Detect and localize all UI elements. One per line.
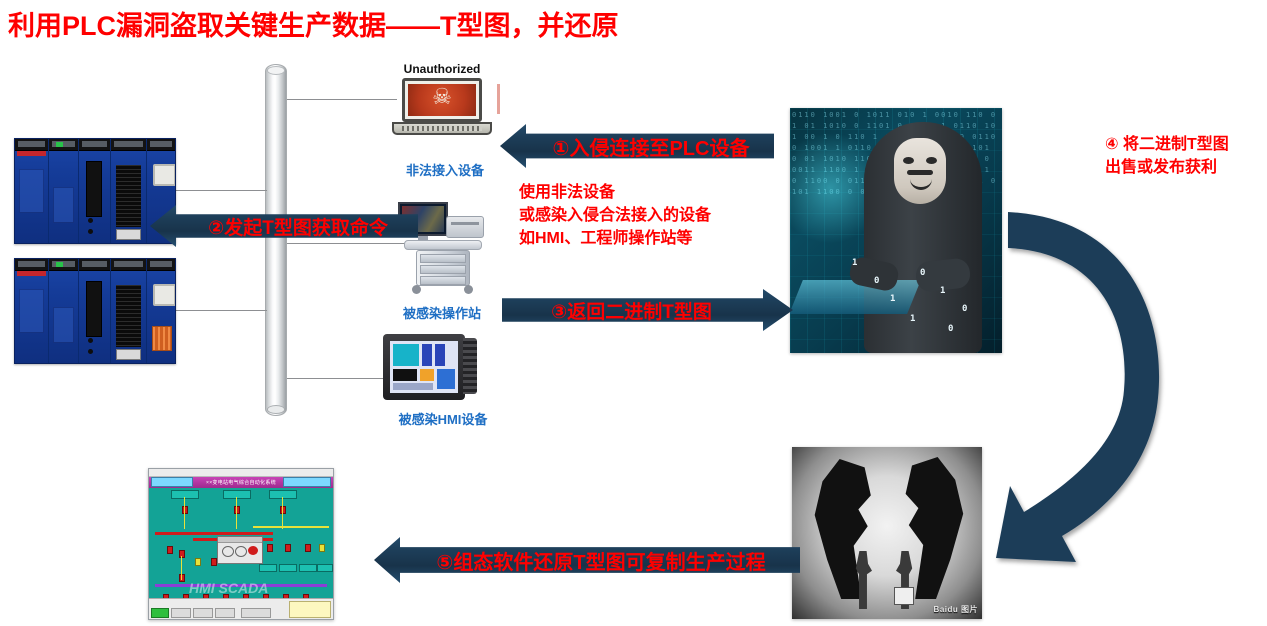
- bus-link-to-hmi: [287, 378, 387, 379]
- infected-hmi-device: [383, 334, 477, 400]
- bus-link-to-unauthorized-laptop: [287, 99, 397, 100]
- workstation-printer: [446, 216, 484, 238]
- arrow-step-3-label: ③返回二进制T型图: [502, 297, 787, 324]
- boxer-shadow-left: [810, 459, 888, 599]
- workstation-deck: [404, 240, 482, 250]
- plc-power-module: [15, 139, 49, 243]
- plc-io-connector-module: [79, 139, 111, 243]
- note-sell-profit: ④ 将二进制T型图 出售或发布获利: [1105, 133, 1265, 179]
- plc-rack-bottom: [14, 258, 176, 364]
- arrow-step-5-label: ⑤组态软件还原T型图可复制生产过程: [380, 546, 800, 575]
- plc-ethernet-module: [147, 259, 175, 363]
- hmi-bezel: [383, 334, 465, 400]
- page-title: 利用PLC漏洞盗取关键生产数据——T型图，并还原: [8, 4, 908, 43]
- bus-link-to-workstation: [287, 243, 407, 244]
- arrow-step-2-label: ②发起T型图获取命令: [156, 213, 418, 240]
- scada-toolbar-right: [283, 477, 331, 487]
- network-bus-cylinder: [265, 64, 287, 416]
- hacker-photo: 0110 1001 0 1011 010 1 0010 110 0 1 01 1…: [790, 108, 1002, 353]
- plc-power-module: [15, 259, 49, 363]
- workstation-cart-body: [416, 250, 470, 286]
- plc-terminal-module: [111, 259, 147, 363]
- plc-terminal-module: [111, 139, 147, 243]
- plc-io-connector-module: [79, 259, 111, 363]
- laptop-keyboard: [392, 122, 492, 135]
- hmi-screen: [390, 341, 458, 393]
- note-sell-profit-line2: 出售或发布获利: [1105, 156, 1265, 179]
- unauthorized-laptop: ☠: [392, 78, 492, 140]
- boxer-shadow-right: [888, 457, 968, 599]
- scada-title-text: ××变电站电气综合自动化系统: [206, 479, 276, 486]
- bus-link-to-plc-bottom: [175, 310, 267, 311]
- scada-diagram-canvas: HMI SCADA: [149, 488, 333, 599]
- laptop-antenna-icon: [497, 84, 500, 114]
- arrow-step-3[interactable]: ③返回二进制T型图: [502, 289, 793, 331]
- caption-unauthorized-device: 非法接入设备: [385, 160, 505, 179]
- workstation-wheel-right: [464, 285, 473, 294]
- deal-photo: Baidu 图片: [792, 447, 982, 619]
- scada-dialog: [217, 536, 263, 564]
- laptop-screen: ☠: [402, 78, 482, 122]
- arrow-step-1-label: ①入侵连接至PLC设备: [506, 132, 774, 161]
- briefcase-icon: [894, 587, 914, 605]
- bus-link-to-plc-top: [175, 190, 267, 191]
- note-illegal-device-line1: 使用非法设备: [519, 181, 819, 204]
- arrow-step-5[interactable]: ⑤组态软件还原T型图可复制生产过程: [374, 537, 800, 583]
- plc-cpu-module: [49, 259, 79, 363]
- photo-watermark: Baidu 图片: [934, 604, 978, 615]
- arrow-step-1[interactable]: ①入侵连接至PLC设备: [500, 124, 774, 168]
- plc-cpu-module: [49, 139, 79, 243]
- note-illegal-device-line2: 或感染入侵合法接入的设备: [519, 204, 819, 227]
- plc-rack-top: [14, 138, 176, 244]
- note-illegal-device-line3: 如HMI、工程师操作站等: [519, 227, 819, 250]
- scada-toolbar-left: [151, 477, 193, 487]
- note-sell-profit-line1: ④ 将二进制T型图: [1105, 133, 1265, 156]
- caption-infected-hmi: 被感染HMI设备: [378, 409, 508, 428]
- skull-icon: ☠: [432, 86, 452, 108]
- workstation-wheel-left: [412, 285, 421, 294]
- scada-screenshot: ××变电站电气综合自动化系统: [148, 468, 334, 620]
- scada-statusbar: [149, 598, 333, 619]
- caption-infected-workstation: 被感染操作站: [382, 303, 502, 322]
- guy-fawkes-mask-icon: [894, 138, 946, 204]
- note-illegal-device: 使用非法设备 或感染入侵合法接入的设备 如HMI、工程师操作站等: [519, 181, 819, 250]
- hacker-laptop: [790, 280, 921, 314]
- curved-arrow-step-4: [980, 190, 1250, 590]
- scada-watermark: HMI SCADA: [189, 580, 268, 596]
- unauthorized-badge: Unauthorized: [386, 62, 498, 76]
- hmi-heatsink: [463, 338, 477, 394]
- scada-menubar: [149, 469, 333, 477]
